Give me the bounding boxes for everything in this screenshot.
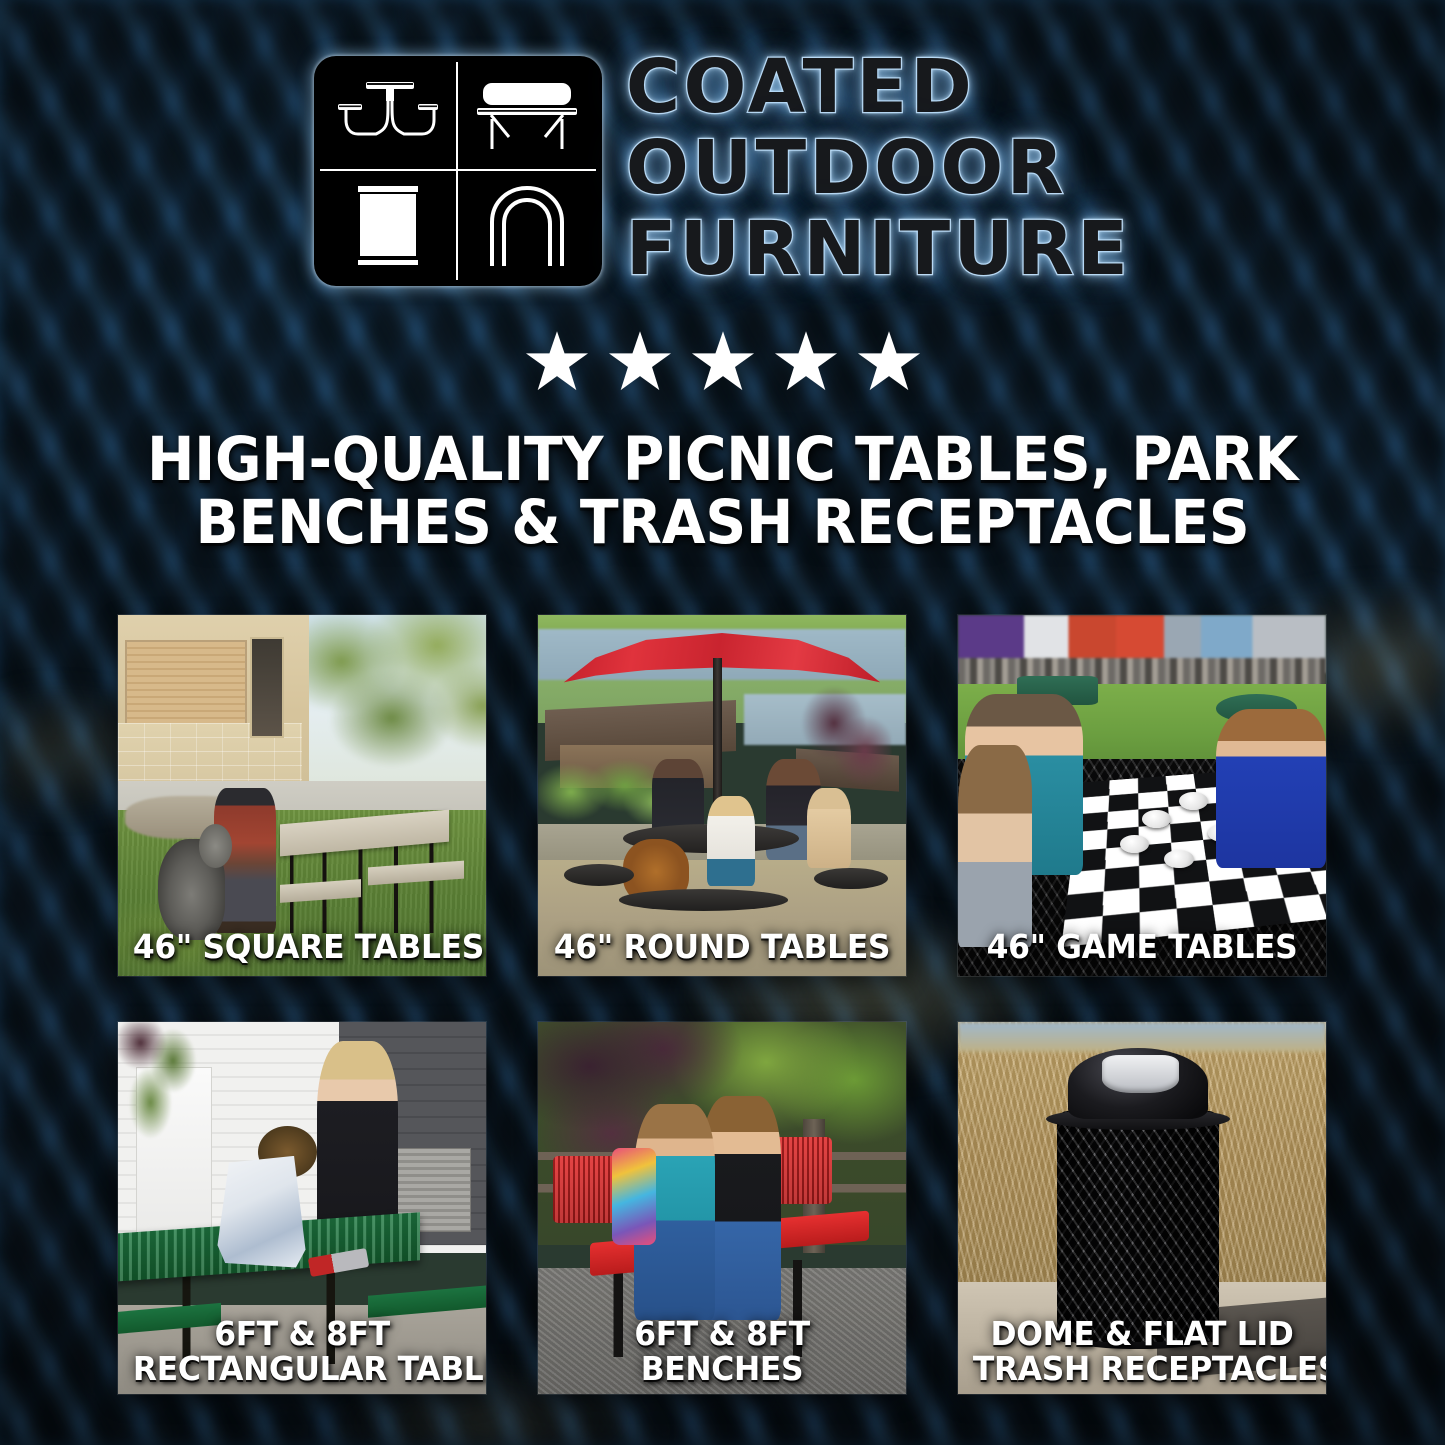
product-tile-rectangular-tables[interactable]: 6FT & 8FT RECTANGULAR TABLES (118, 1022, 486, 1394)
caption-line-1: 6FT & 8FT (133, 1317, 471, 1351)
product-photo-round-tables (538, 615, 906, 976)
product-caption: 6FT & 8FT RECTANGULAR TABLES (133, 1317, 471, 1386)
caption-line-1: DOME & FLAT LID (973, 1317, 1311, 1351)
headline-line-1: HIGH-QUALITY PICNIC TABLES, PARK (106, 428, 1338, 491)
star-icon (857, 331, 921, 393)
wordmark-line-1: COATED (626, 52, 975, 123)
caption-line-1: 6FT & 8FT (553, 1317, 891, 1351)
brand-logo-mark (314, 56, 602, 286)
headline: HIGH-QUALITY PICNIC TABLES, PARK BENCHES… (106, 428, 1338, 555)
trash-receptacle-icon (320, 171, 458, 280)
product-caption: 46" GAME TABLES (973, 930, 1311, 964)
caption-line-1: 46" SQUARE TABLES (133, 930, 471, 964)
wordmark-line-2: OUTDOOR (626, 133, 1067, 204)
caption-line-2: BENCHES (553, 1352, 891, 1386)
caption-line-1: 46" GAME TABLES (973, 930, 1311, 964)
star-icon (691, 331, 755, 393)
caption-line-2: RECTANGULAR TABLES (133, 1352, 471, 1386)
product-tile-benches[interactable]: 6FT & 8FT BENCHES (538, 1022, 906, 1394)
star-icon (608, 331, 672, 393)
product-tile-game-tables[interactable]: 46" GAME TABLES (958, 615, 1326, 976)
bench-icon (458, 62, 596, 171)
product-caption: 6FT & 8FT BENCHES (553, 1317, 891, 1386)
product-photo-game-tables (958, 615, 1326, 976)
wordmark-line-3: FURNITURE (626, 214, 1131, 285)
product-tile-square-tables[interactable]: 46" SQUARE TABLES (118, 615, 486, 976)
brand-wordmark: COATED OUTDOOR FURNITURE (626, 52, 1131, 285)
caption-line-1: 46" ROUND TABLES (553, 930, 891, 964)
star-icon (525, 331, 589, 393)
star-rating (0, 331, 1445, 393)
product-tile-round-tables[interactable]: 46" ROUND TABLES (538, 615, 906, 976)
bike-rack-icon (458, 171, 596, 280)
product-caption: DOME & FLAT LID TRASH RECEPTACLES (973, 1317, 1311, 1386)
picnic-table-icon (320, 62, 458, 171)
product-tile-trash-receptacles[interactable]: DOME & FLAT LID TRASH RECEPTACLES (958, 1022, 1326, 1394)
star-icon (774, 331, 838, 393)
promotional-poster: COATED OUTDOOR FURNITURE HIGH-QUALITY PI… (0, 0, 1445, 1445)
product-caption: 46" SQUARE TABLES (133, 930, 471, 964)
headline-line-2: BENCHES & TRASH RECEPTACLES (106, 491, 1338, 554)
product-photo-square-tables (118, 615, 486, 976)
product-caption: 46" ROUND TABLES (553, 930, 891, 964)
caption-line-2: TRASH RECEPTACLES (973, 1352, 1311, 1386)
product-grid: 46" SQUARE TABLES (118, 615, 1328, 1394)
brand-header: COATED OUTDOOR FURNITURE (0, 56, 1445, 286)
